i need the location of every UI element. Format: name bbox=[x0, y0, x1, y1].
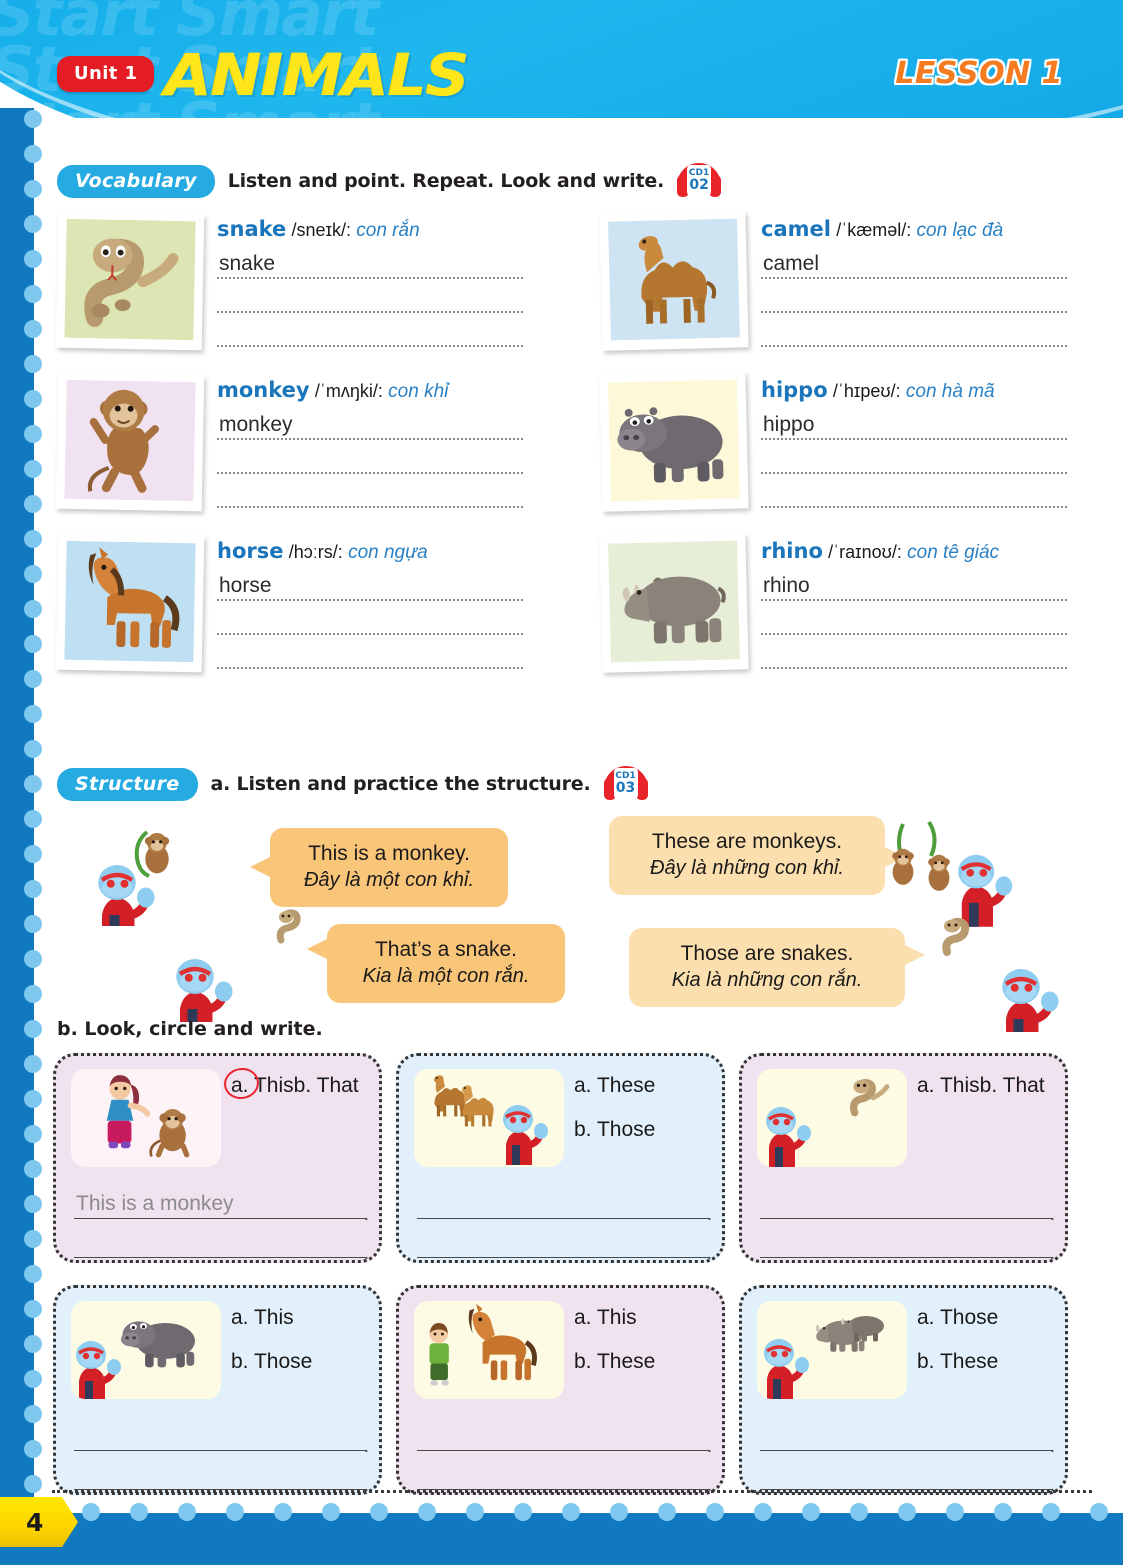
decor-dot bbox=[418, 1503, 436, 1521]
decor-dot bbox=[178, 1503, 196, 1521]
write-line-3[interactable] bbox=[217, 635, 523, 669]
decor-dot bbox=[24, 425, 42, 443]
write-line-2[interactable] bbox=[761, 279, 1067, 313]
option-b[interactable]: b. That bbox=[980, 1075, 1045, 1097]
decor-dot bbox=[24, 355, 42, 373]
speech-bubble-4: Those are snakes.Kia là những con rắn. bbox=[629, 928, 905, 1007]
option-a-label: a. This bbox=[574, 1306, 637, 1329]
written-answer: rhino bbox=[763, 574, 810, 598]
track-label: 03 bbox=[616, 781, 635, 795]
word-label: monkey bbox=[217, 378, 310, 402]
vocabulary-instruction: Listen and point. Repeat. Look and write… bbox=[228, 170, 664, 192]
word-ipa: /ˈmʌŋki/: bbox=[315, 381, 383, 401]
vocabulary-item-rhino: rhino /ˈraɪnoʊ/: con tê giácrhino bbox=[601, 535, 1067, 671]
speech-bubble-2: These are monkeys.Đây là những con khỉ. bbox=[609, 816, 885, 895]
exercise-card-4: a. Thisb. Those bbox=[53, 1285, 382, 1495]
vocabulary-section-header: Vocabulary Listen and point. Repeat. Loo… bbox=[57, 163, 721, 199]
word-label: horse bbox=[217, 539, 283, 563]
card-top: a. Thisb. That bbox=[71, 1069, 364, 1173]
vocabulary-text: rhino /ˈraɪnoʊ/: con tê giácrhino bbox=[761, 535, 1067, 671]
decor-dot bbox=[274, 1503, 292, 1521]
answer-line-2[interactable] bbox=[417, 1232, 709, 1258]
option-a-label: a. These bbox=[574, 1074, 655, 1097]
decor-dot bbox=[24, 1195, 42, 1213]
bubble-english: This is a monkey. bbox=[292, 840, 486, 867]
word-translation: con khỉ bbox=[388, 381, 448, 402]
card-top: a. Thoseb. These bbox=[757, 1301, 1050, 1405]
page-title: ANIMALS bbox=[165, 41, 469, 109]
vocabulary-item-snake: snake /sneɪk/: con rắnsnake bbox=[57, 213, 523, 349]
vocabulary-item-horse: horse /hɔːrs/: con ngựahorse bbox=[57, 535, 523, 671]
exercise-card-1: a. Thisb. ThatThis is a monkey bbox=[53, 1053, 382, 1263]
decor-dot bbox=[1090, 1503, 1108, 1521]
vocabulary-row: monkey /ˈmʌŋki/: con khỉmonkey hippo /ˈh… bbox=[57, 374, 1067, 510]
word-ipa: /ˈkæməl/: bbox=[836, 220, 911, 240]
decor-dot bbox=[24, 950, 42, 968]
decor-dot bbox=[24, 215, 42, 233]
word-ipa: /ˈraɪnoʊ/: bbox=[828, 542, 902, 562]
bubble-english: These are monkeys. bbox=[631, 828, 863, 855]
word-definition-line: rhino /ˈraɪnoʊ/: con tê giác bbox=[761, 539, 1067, 565]
option-a-label: a. Those bbox=[917, 1306, 998, 1329]
rhino-photo bbox=[599, 533, 748, 673]
vocabulary-item-hippo: hippo /ˈhɪpeʊ/: con hà mãhippo bbox=[601, 374, 1067, 510]
hippo-photo bbox=[599, 372, 748, 512]
boy-and-horse-image bbox=[414, 1301, 564, 1399]
footer-dotted-line bbox=[52, 1490, 1092, 1493]
answer-line-1[interactable] bbox=[760, 1425, 1052, 1451]
decor-dot bbox=[24, 1300, 42, 1318]
option-b[interactable]: b. Those bbox=[231, 1351, 312, 1373]
write-line-1[interactable]: camel bbox=[761, 245, 1067, 279]
decor-dot bbox=[24, 1335, 42, 1353]
decor-dot bbox=[24, 565, 42, 583]
speech-bubble-3: That’s a snake.Kia là một con rắn. bbox=[327, 924, 565, 1003]
decor-dot bbox=[24, 635, 42, 653]
track-label: 02 bbox=[689, 178, 708, 192]
decor-dot bbox=[610, 1503, 628, 1521]
answer-line-1[interactable] bbox=[760, 1193, 1052, 1219]
write-line-1[interactable]: monkey bbox=[217, 406, 523, 440]
hippo-and-alien-image bbox=[71, 1301, 221, 1399]
card-top: a. Thisb. That bbox=[757, 1069, 1050, 1173]
option-b-label: b. That bbox=[980, 1074, 1045, 1097]
write-line-2[interactable] bbox=[217, 440, 523, 474]
decor-dot bbox=[24, 1160, 42, 1178]
decor-dot bbox=[130, 1503, 148, 1521]
vocabulary-grid: snake /sneɪk/: con rắnsnake camel /ˈkæmə… bbox=[57, 213, 1067, 696]
word-ipa: /ˈhɪpeʊ/: bbox=[833, 381, 901, 401]
decor-dot bbox=[562, 1503, 580, 1521]
word-label: camel bbox=[761, 217, 831, 241]
written-answer: snake bbox=[219, 252, 275, 276]
word-definition-line: camel /ˈkæməl/: con lạc đà bbox=[761, 217, 1067, 243]
page-number: 4 bbox=[0, 1497, 78, 1547]
alien-character bbox=[93, 826, 203, 926]
structure-section-header: Structure a. Listen and practice the str… bbox=[57, 766, 1067, 802]
word-translation: con ngựa bbox=[348, 542, 428, 563]
decor-dot bbox=[24, 880, 42, 898]
card-options: a. Thisb. That bbox=[231, 1069, 364, 1173]
exercise-card-grid: a. Thisb. ThatThis is a monkey a. Theseb… bbox=[53, 1053, 1068, 1495]
option-b[interactable]: b. These bbox=[917, 1351, 998, 1373]
exercise-card-3: a. Thisb. That bbox=[739, 1053, 1068, 1263]
decor-dot bbox=[24, 1265, 42, 1283]
decor-dot bbox=[24, 1125, 42, 1143]
decor-dot bbox=[322, 1503, 340, 1521]
decor-dot bbox=[754, 1503, 772, 1521]
decor-dot bbox=[24, 810, 42, 828]
decor-dot bbox=[226, 1503, 244, 1521]
write-line-2[interactable] bbox=[761, 440, 1067, 474]
snake-figure bbox=[269, 906, 309, 946]
answer-line-1[interactable] bbox=[74, 1425, 366, 1451]
exercise-card-5: a. Thisb. These bbox=[396, 1285, 725, 1495]
bubble-tail bbox=[903, 944, 925, 966]
card-top: a. Thisb. These bbox=[414, 1301, 707, 1405]
decor-dot bbox=[82, 1503, 100, 1521]
decor-dot bbox=[946, 1503, 964, 1521]
write-line-3[interactable] bbox=[217, 313, 523, 347]
decor-dot bbox=[850, 1503, 868, 1521]
option-b-label: b. That bbox=[294, 1074, 359, 1097]
decor-dot bbox=[24, 705, 42, 723]
exercise-card-2: a. Theseb. Those bbox=[396, 1053, 725, 1263]
write-line-1[interactable]: rhino bbox=[761, 567, 1067, 601]
option-b-label: b. Those bbox=[574, 1118, 655, 1141]
answer-line-1[interactable] bbox=[417, 1425, 709, 1451]
decor-dot bbox=[24, 320, 42, 338]
decor-dot bbox=[24, 1230, 42, 1248]
written-answer: horse bbox=[219, 574, 272, 598]
lesson-label: LESSON 1 bbox=[895, 56, 1063, 91]
bubble-vietnamese: Kia là một con rắn. bbox=[349, 963, 543, 990]
written-answer: hippo bbox=[763, 413, 814, 437]
horse-photo bbox=[56, 534, 205, 673]
structure-pill: Structure bbox=[57, 768, 198, 801]
word-label: rhino bbox=[761, 539, 823, 563]
write-line-3[interactable] bbox=[217, 474, 523, 508]
decor-dot bbox=[24, 845, 42, 863]
exercise-card-6: a. Thoseb. These bbox=[739, 1285, 1068, 1495]
decor-dot bbox=[24, 1370, 42, 1388]
answer-line-2[interactable] bbox=[74, 1464, 366, 1490]
decor-dot bbox=[24, 740, 42, 758]
decor-dot bbox=[1042, 1503, 1060, 1521]
word-label: snake bbox=[217, 217, 286, 241]
decor-dot bbox=[24, 670, 42, 688]
answer-line-2[interactable] bbox=[417, 1464, 709, 1490]
answer-line-2[interactable] bbox=[760, 1464, 1052, 1490]
unit-badge: Unit 1 bbox=[57, 56, 154, 92]
bubble-tail bbox=[250, 856, 272, 878]
vocabulary-item-monkey: monkey /ˈmʌŋki/: con khỉmonkey bbox=[57, 374, 523, 510]
answer-text: This is a monkey bbox=[76, 1192, 234, 1216]
decor-dot bbox=[24, 915, 42, 933]
option-a[interactable]: a. This bbox=[231, 1075, 294, 1097]
word-translation: con rắn bbox=[356, 220, 419, 241]
write-line-1[interactable]: snake bbox=[217, 245, 523, 279]
rhinos-and-alien-image bbox=[757, 1301, 907, 1399]
write-line-1[interactable]: horse bbox=[217, 567, 523, 601]
vocabulary-pill: Vocabulary bbox=[57, 165, 215, 198]
option-a[interactable]: a. Those bbox=[917, 1307, 998, 1329]
decor-dot bbox=[370, 1503, 388, 1521]
decor-dot bbox=[24, 460, 42, 478]
bubble-english: That’s a snake. bbox=[349, 936, 543, 963]
snake-photo bbox=[56, 212, 205, 351]
decor-dot bbox=[24, 495, 42, 513]
decor-dot bbox=[514, 1503, 532, 1521]
card-top: a. Thisb. Those bbox=[71, 1301, 364, 1405]
monkey-photo bbox=[56, 373, 205, 512]
left-side-dots bbox=[24, 110, 44, 1508]
answer-line-1[interactable]: This is a monkey bbox=[74, 1193, 366, 1219]
option-a[interactable]: a. This bbox=[574, 1307, 637, 1329]
bubble-vietnamese: Đây là những con khỉ. bbox=[631, 855, 863, 882]
bubble-vietnamese: Kia là những con rắn. bbox=[651, 967, 883, 994]
word-label: hippo bbox=[761, 378, 828, 402]
word-definition-line: hippo /ˈhɪpeʊ/: con hà mã bbox=[761, 378, 1067, 404]
vocabulary-text: camel /ˈkæməl/: con lạc đàcamel bbox=[761, 213, 1067, 349]
girl-and-monkey-image bbox=[71, 1069, 221, 1167]
decor-dot bbox=[24, 775, 42, 793]
word-definition-line: snake /sneɪk/: con rắn bbox=[217, 217, 523, 243]
option-b-label: b. These bbox=[917, 1350, 998, 1373]
decor-dot bbox=[24, 985, 42, 1003]
vocabulary-text: horse /hɔːrs/: con ngựahorse bbox=[217, 535, 523, 671]
decor-dot bbox=[24, 1020, 42, 1038]
decor-dot bbox=[24, 600, 42, 618]
vocabulary-item-camel: camel /ˈkæməl/: con lạc đàcamel bbox=[601, 213, 1067, 349]
bubble-vietnamese: Đây là một con khỉ. bbox=[292, 867, 486, 894]
decor-dot bbox=[706, 1503, 724, 1521]
decor-dot bbox=[24, 180, 42, 198]
exercise-instruction-b: b. Look, circle and write. bbox=[57, 1018, 323, 1040]
page-header: Start Smart Start Smart Start Smart Unit… bbox=[0, 0, 1123, 118]
decor-dot bbox=[24, 145, 42, 163]
decor-dot bbox=[24, 110, 42, 128]
footer-dots bbox=[34, 1503, 1123, 1523]
vocabulary-row: horse /hɔːrs/: con ngựahorse rhino /ˈraɪ… bbox=[57, 535, 1067, 671]
decor-dot bbox=[898, 1503, 916, 1521]
word-translation: con tê giác bbox=[907, 542, 999, 563]
snake-and-alien-image bbox=[757, 1069, 907, 1167]
option-a-label: a. This bbox=[231, 1306, 294, 1329]
write-line-3[interactable] bbox=[761, 313, 1067, 347]
camel-photo bbox=[599, 211, 748, 351]
write-line-1[interactable]: hippo bbox=[761, 406, 1067, 440]
vocabulary-text: monkey /ˈmʌŋki/: con khỉmonkey bbox=[217, 374, 523, 510]
structure-dialogue-area: This is a monkey.Đây là một con khỉ.Thes… bbox=[57, 814, 1067, 1036]
decor-dot bbox=[802, 1503, 820, 1521]
bubble-tail bbox=[307, 938, 329, 960]
decor-dot bbox=[24, 530, 42, 548]
card-top: a. Theseb. Those bbox=[414, 1069, 707, 1173]
word-definition-line: monkey /ˈmʌŋki/: con khỉ bbox=[217, 378, 523, 404]
decor-dot bbox=[24, 1055, 42, 1073]
write-line-2[interactable] bbox=[761, 601, 1067, 635]
camels-and-alien-image bbox=[414, 1069, 564, 1167]
decor-dot bbox=[24, 390, 42, 408]
answer-line-2[interactable] bbox=[74, 1232, 366, 1258]
structure-section: Structure a. Listen and practice the str… bbox=[57, 766, 1067, 1036]
word-definition-line: horse /hɔːrs/: con ngựa bbox=[217, 539, 523, 565]
decor-dot bbox=[24, 1475, 42, 1493]
write-line-2[interactable] bbox=[217, 279, 523, 313]
write-line-3[interactable] bbox=[761, 474, 1067, 508]
card-options: a. Theseb. Those bbox=[574, 1069, 707, 1173]
decor-dot bbox=[994, 1503, 1012, 1521]
option-a-label: a. This bbox=[917, 1074, 980, 1097]
alien-character bbox=[991, 942, 1081, 1032]
written-answer: camel bbox=[763, 252, 819, 276]
written-answer: monkey bbox=[219, 413, 293, 437]
headphones-icon: CD1 02 bbox=[677, 163, 721, 199]
decor-dot bbox=[24, 285, 42, 303]
word-ipa: /sneɪk/: bbox=[292, 220, 351, 240]
bubble-english: Those are snakes. bbox=[651, 940, 883, 967]
alien-character bbox=[167, 932, 257, 1022]
structure-instruction-a: a. Listen and practice the structure. bbox=[211, 773, 591, 795]
card-options: a. Thisb. These bbox=[574, 1301, 707, 1405]
speech-bubble-1: This is a monkey.Đây là một con khỉ. bbox=[270, 828, 508, 907]
option-a[interactable]: a. These bbox=[574, 1075, 655, 1097]
vocabulary-text: hippo /ˈhɪpeʊ/: con hà mãhippo bbox=[761, 374, 1067, 510]
option-b[interactable]: b. Those bbox=[574, 1119, 655, 1141]
card-options: a. Thoseb. These bbox=[917, 1301, 1050, 1405]
option-a[interactable]: a. This bbox=[231, 1307, 294, 1329]
decor-dot bbox=[24, 1405, 42, 1423]
option-b-label: b. Those bbox=[231, 1350, 312, 1373]
answer-line-2[interactable] bbox=[760, 1232, 1052, 1258]
answer-line-1[interactable] bbox=[417, 1193, 709, 1219]
decor-dot bbox=[466, 1503, 484, 1521]
vocabulary-row: snake /sneɪk/: con rắnsnake camel /ˈkæmə… bbox=[57, 213, 1067, 349]
write-line-3[interactable] bbox=[761, 635, 1067, 669]
word-translation: con hà mã bbox=[906, 381, 995, 402]
vocabulary-text: snake /sneɪk/: con rắnsnake bbox=[217, 213, 523, 349]
option-a[interactable]: a. This bbox=[917, 1075, 980, 1097]
decor-dot bbox=[24, 250, 42, 268]
decor-dot bbox=[658, 1503, 676, 1521]
word-translation: con lạc đà bbox=[917, 220, 1004, 241]
headphones-icon: CD1 03 bbox=[604, 766, 648, 802]
snake-figure bbox=[933, 914, 979, 958]
option-b[interactable]: b. That bbox=[294, 1075, 359, 1097]
word-ipa: /hɔːrs/: bbox=[289, 542, 343, 562]
decor-dot bbox=[24, 1090, 42, 1108]
card-options: a. Thisb. Those bbox=[231, 1301, 364, 1405]
card-options: a. Thisb. That bbox=[917, 1069, 1050, 1173]
option-b[interactable]: b. These bbox=[574, 1351, 655, 1373]
option-b-label: b. These bbox=[574, 1350, 655, 1373]
write-line-2[interactable] bbox=[217, 601, 523, 635]
decor-dot bbox=[24, 1440, 42, 1458]
